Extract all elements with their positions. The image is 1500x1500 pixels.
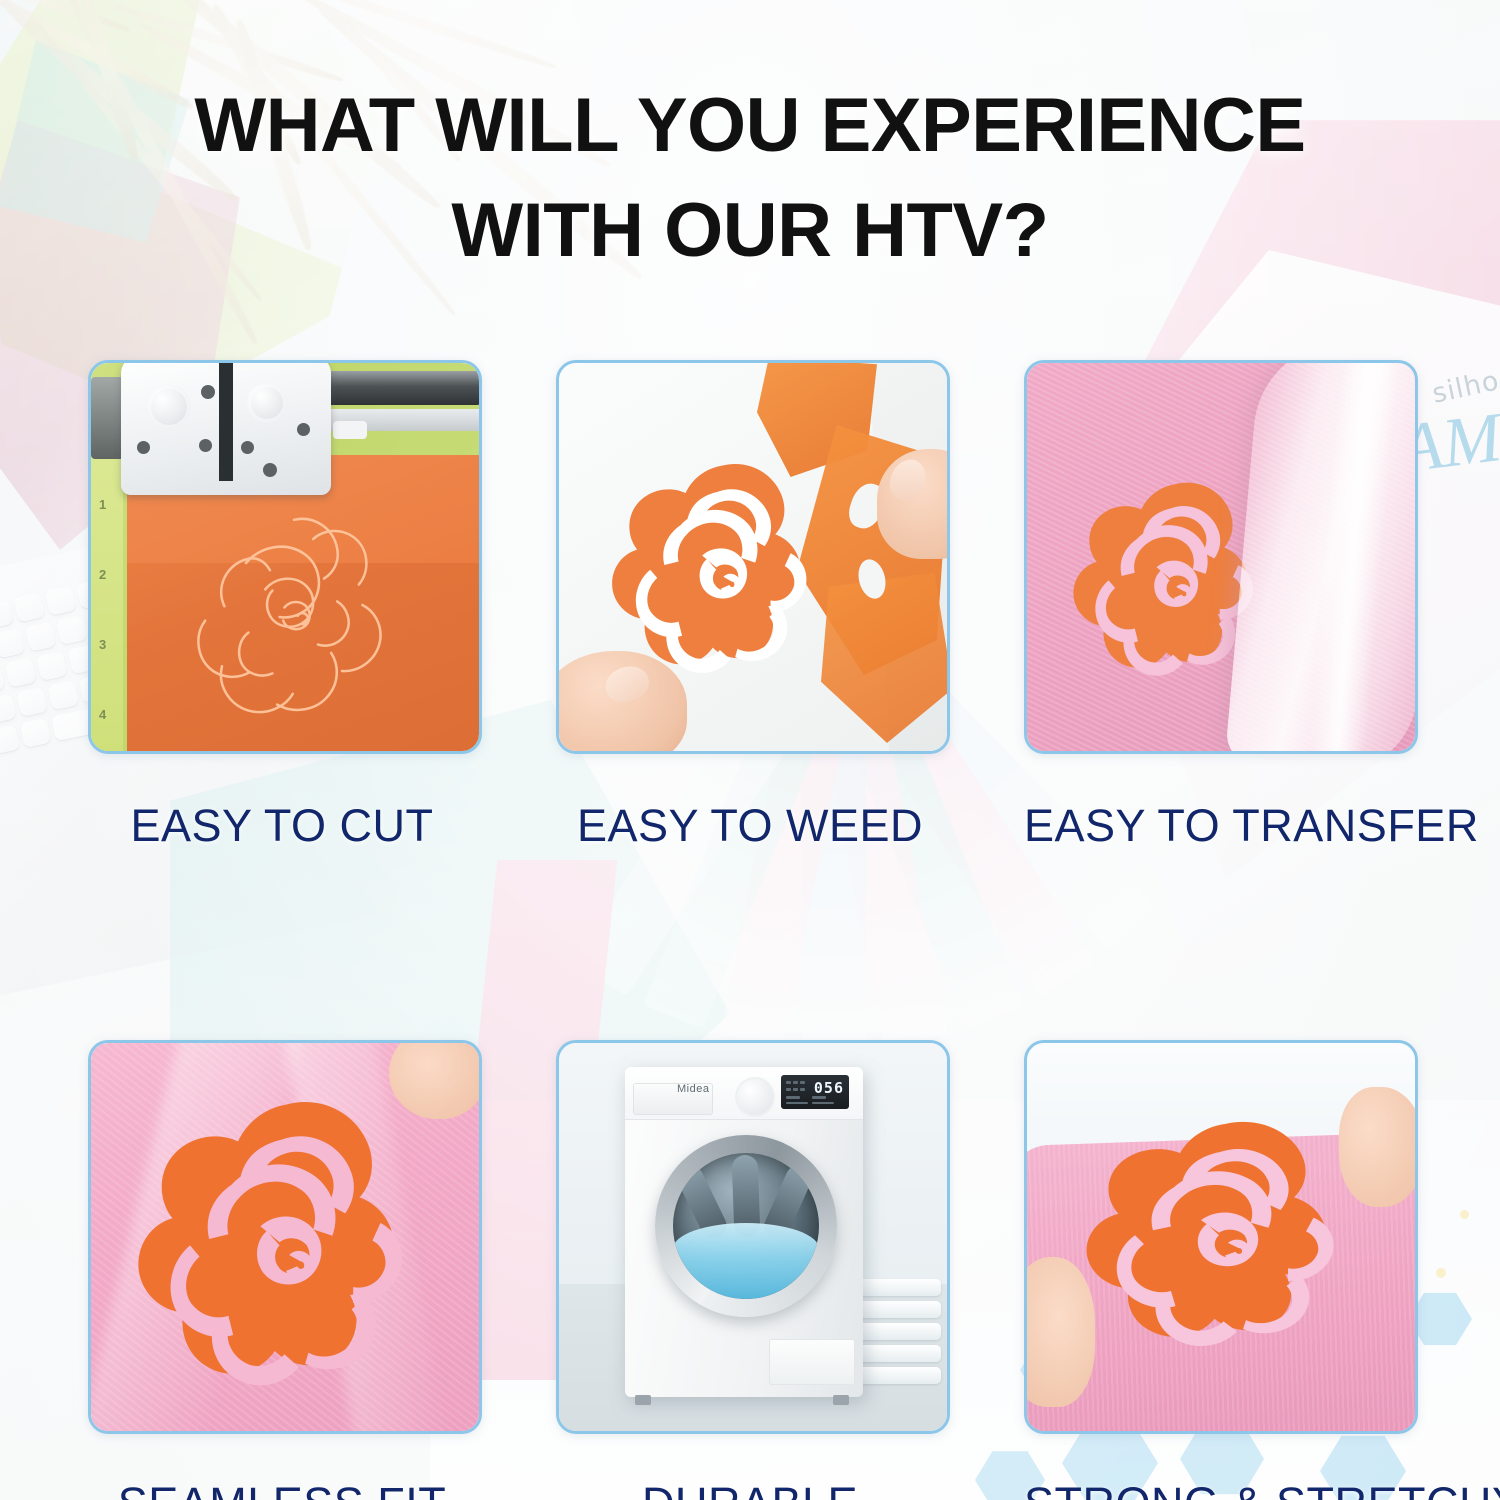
ruler-mark: 4: [99, 707, 106, 722]
ruler-mark: 2: [99, 567, 106, 582]
feature-image-easy-to-transfer[interactable]: [1024, 360, 1418, 754]
machine-display: 056: [781, 1075, 849, 1109]
feature-cell-easy-to-cut: 1 2 3 4: [88, 360, 476, 852]
feature-cell-easy-to-weed: EASY TO WEED: [556, 360, 944, 852]
feature-caption-easy-to-transfer: EASY TO TRANSFER: [1024, 800, 1412, 852]
feature-image-seamless-fit[interactable]: [88, 1040, 482, 1434]
program-dial: [735, 1077, 775, 1117]
machine-display-value: 056: [814, 1079, 844, 1097]
feature-caption-strong-and-stretchy: STRONG & STRETCHY: [1024, 1478, 1412, 1500]
feature-row-bottom: SEAMLESS FIT Midea: [88, 1040, 1412, 1500]
page-title-line-2: WITH OUR HTV?: [0, 179, 1500, 284]
feature-caption-durable: DURABLE: [556, 1478, 944, 1500]
filter-access-panel: [769, 1339, 855, 1385]
page-title-line-1: WHAT WILL YOU EXPERIENCE: [194, 83, 1305, 168]
feature-cell-strong-and-stretchy: STRONG & STRETCHY: [1024, 1040, 1412, 1500]
feature-caption-easy-to-weed: EASY TO WEED: [556, 800, 944, 852]
feature-caption-easy-to-cut: EASY TO CUT: [88, 800, 476, 852]
ruler-mark: 1: [99, 497, 106, 512]
machine-brand-label: Midea: [677, 1083, 709, 1095]
feature-image-easy-to-cut[interactable]: 1 2 3 4: [88, 360, 482, 754]
door-window: [673, 1153, 819, 1299]
page-title: WHAT WILL YOU EXPERIENCE WITH OUR HTV?: [0, 74, 1500, 284]
water-in-drum: [673, 1223, 819, 1299]
rose-on-fabric: [121, 1079, 451, 1399]
infographic-root: silho AM WHAT WILL YOU EXPERIENCE WITH O…: [0, 0, 1500, 1500]
cutting-mat-ruler: 1 2 3 4: [91, 455, 123, 751]
feature-grid: 1 2 3 4: [88, 360, 1412, 1500]
feature-cell-seamless-fit: SEAMLESS FIT: [88, 1040, 476, 1500]
feature-cell-durable: Midea 056: [556, 1040, 944, 1500]
rose-design: [603, 447, 839, 683]
rose-cut-outline: [169, 491, 419, 731]
hand-left-stretching: [1027, 1257, 1095, 1407]
feature-image-easy-to-weed[interactable]: [556, 360, 950, 754]
feature-row-top: 1 2 3 4: [88, 360, 1412, 852]
feature-image-durable[interactable]: Midea 056: [556, 1040, 950, 1434]
hand-right-stretching: [1339, 1087, 1415, 1207]
rose-stretched: [1075, 1121, 1375, 1351]
feature-cell-easy-to-transfer: EASY TO TRANSFER: [1024, 360, 1412, 852]
feature-caption-seamless-fit: SEAMLESS FIT: [88, 1478, 476, 1500]
ruler-mark: 3: [99, 637, 106, 652]
feature-image-strong-and-stretchy[interactable]: [1024, 1040, 1418, 1434]
